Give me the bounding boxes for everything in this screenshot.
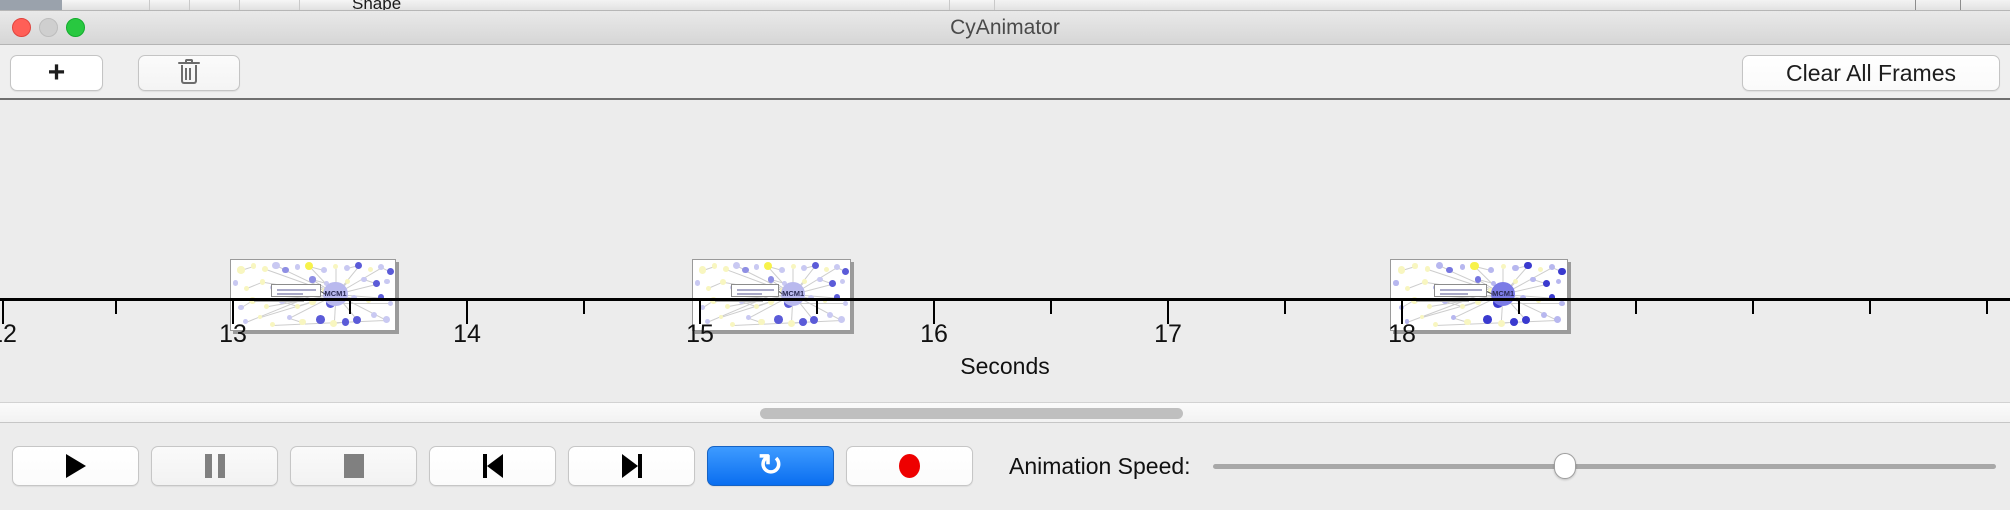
graph-node [295, 264, 300, 269]
slider-track [1213, 464, 1996, 469]
cyanimator-window: CyAnimator + Clear All Frames MCM1MCM1MC… [0, 11, 2010, 510]
timeline-canvas[interactable]: MCM1MCM1MCM1 12131415161718 Seconds [0, 100, 2010, 402]
graph-node [355, 262, 362, 269]
ruler-tick-minor [1284, 301, 1286, 314]
background-window-chip [240, 0, 300, 11]
graph-node [1556, 279, 1561, 284]
transport-bar: ↻ Animation Speed: [0, 423, 2010, 509]
graph-node [361, 277, 367, 283]
ruler-tick-minor [1050, 301, 1052, 314]
graph-annotation-box [271, 284, 321, 296]
skip-to-start-button[interactable] [429, 446, 556, 486]
graph-node [1412, 263, 1417, 268]
graph-node [272, 262, 279, 269]
timeline-ruler: 12131415161718 Seconds [0, 298, 2010, 402]
graph-node [802, 279, 807, 284]
graph-node [840, 279, 845, 284]
graph-node [1470, 262, 1478, 270]
graph-node [768, 276, 774, 282]
annotation-text-line [1440, 289, 1482, 291]
trash-icon [178, 60, 200, 86]
graph-node [720, 279, 726, 285]
background-window-chip [920, 0, 950, 11]
graph-node [1422, 279, 1428, 285]
graph-node [733, 262, 740, 269]
add-frame-button[interactable]: + [10, 55, 103, 91]
graph-node [333, 264, 338, 269]
loop-icon: ↻ [758, 451, 783, 481]
ruler-tick-label: 18 [1388, 320, 1416, 349]
ruler-tick-minor [583, 301, 585, 314]
graph-node [1425, 266, 1431, 272]
graph-node [712, 263, 717, 268]
background-window-strip: Shape [0, 0, 2010, 11]
graph-node [723, 266, 729, 272]
graph-node [1393, 280, 1398, 285]
slider-thumb[interactable] [1554, 453, 1576, 479]
skip-back-icon [483, 454, 503, 478]
annotation-text-line [1440, 293, 1468, 295]
graph-node [1436, 262, 1443, 269]
ruler-tick-minor [115, 301, 117, 314]
graph-node [791, 264, 796, 269]
background-window-chip [300, 0, 355, 11]
background-window-chip [950, 0, 995, 11]
window-title: CyAnimator [0, 11, 2010, 45]
graph-node [842, 268, 849, 275]
annotation-text-line [737, 289, 774, 291]
graph-node [1405, 286, 1410, 291]
graph-node [373, 280, 380, 287]
skip-to-end-button[interactable] [568, 446, 695, 486]
graph-node [1512, 265, 1518, 271]
animation-speed-label: Animation Speed: [1009, 453, 1191, 480]
annotation-text-line [737, 293, 762, 295]
background-window-label: Shape [352, 0, 401, 11]
ruler-axis-line [0, 298, 2010, 301]
graph-node [233, 280, 238, 285]
ruler-tick-minor [1869, 301, 1871, 314]
background-window-dark-chip [0, 0, 62, 11]
graph-node [754, 264, 759, 269]
play-icon [66, 454, 86, 478]
clear-all-frames-label: Clear All Frames [1786, 60, 1956, 87]
background-window-tick [1960, 0, 1961, 11]
ruler-tick-label: 15 [686, 320, 714, 349]
ruler-tick-minor [349, 301, 351, 314]
ruler-tick-label: 14 [453, 320, 481, 349]
annotation-text-line [277, 293, 303, 295]
graph-node [1488, 267, 1494, 273]
ruler-tick-minor [1635, 301, 1637, 314]
ruler-tick-minor [1518, 301, 1520, 314]
ruler-tick-minor [1986, 301, 1988, 314]
graph-node [829, 280, 836, 287]
graph-node [260, 279, 266, 285]
graph-annotation-box [1434, 284, 1487, 296]
graph-node [779, 267, 785, 273]
skip-forward-icon [622, 454, 642, 478]
ruler-tick-minor [816, 301, 818, 314]
clear-all-frames-button[interactable]: Clear All Frames [1742, 55, 2000, 91]
toolbar: + Clear All Frames [0, 45, 2010, 100]
graph-node [309, 276, 315, 282]
ruler-tick-minor [1752, 301, 1754, 314]
graph-node [384, 279, 389, 284]
background-window-tick [1915, 0, 1916, 11]
background-window-chip [190, 0, 240, 11]
timeline-horizontal-scrollbar[interactable] [0, 402, 2010, 423]
graph-node [801, 265, 807, 271]
graph-node [1501, 264, 1506, 269]
graph-node [345, 279, 350, 284]
loop-button[interactable]: ↻ [707, 446, 834, 486]
graph-node [305, 262, 313, 270]
graph-node [695, 280, 700, 285]
play-button[interactable] [12, 446, 139, 486]
graph-node [387, 268, 394, 275]
graph-annotation-box [731, 284, 779, 296]
graph-node [764, 262, 772, 270]
animation-speed-slider[interactable] [1213, 453, 1996, 479]
pause-icon [205, 454, 225, 478]
graph-node [812, 262, 819, 269]
stop-button[interactable] [290, 446, 417, 486]
ruler-tick-label: 12 [0, 320, 17, 349]
ruler-axis-title: Seconds [0, 353, 2010, 380]
record-button[interactable] [846, 446, 973, 486]
graph-node [237, 266, 244, 273]
record-icon [899, 454, 920, 478]
stop-icon [344, 454, 364, 478]
graph-node [344, 265, 350, 271]
graph-node [321, 267, 327, 273]
ruler-tick-label: 16 [920, 320, 948, 349]
graph-node [1543, 280, 1550, 287]
graph-node [1460, 264, 1465, 269]
graph-node [244, 286, 249, 291]
graph-node [251, 263, 256, 268]
ruler-tick-label: 17 [1154, 320, 1182, 349]
graph-node [1475, 276, 1481, 282]
graph-node [699, 266, 706, 273]
graph-node [706, 286, 711, 291]
graph-node [1398, 266, 1405, 273]
title-bar: CyAnimator [0, 11, 2010, 45]
graph-node [1524, 262, 1531, 269]
scrollbar-thumb[interactable] [760, 408, 1183, 419]
annotation-text-line [277, 289, 316, 291]
graph-node [1558, 268, 1565, 275]
pause-button[interactable] [151, 446, 278, 486]
graph-node [817, 277, 823, 283]
ruler-tick-label: 13 [219, 320, 247, 349]
background-window-chip [62, 0, 150, 11]
graph-node [1530, 277, 1536, 283]
graph-node [1513, 279, 1518, 284]
graph-node [262, 266, 268, 272]
background-window-chip [150, 0, 190, 11]
delete-frame-button[interactable] [138, 55, 240, 91]
